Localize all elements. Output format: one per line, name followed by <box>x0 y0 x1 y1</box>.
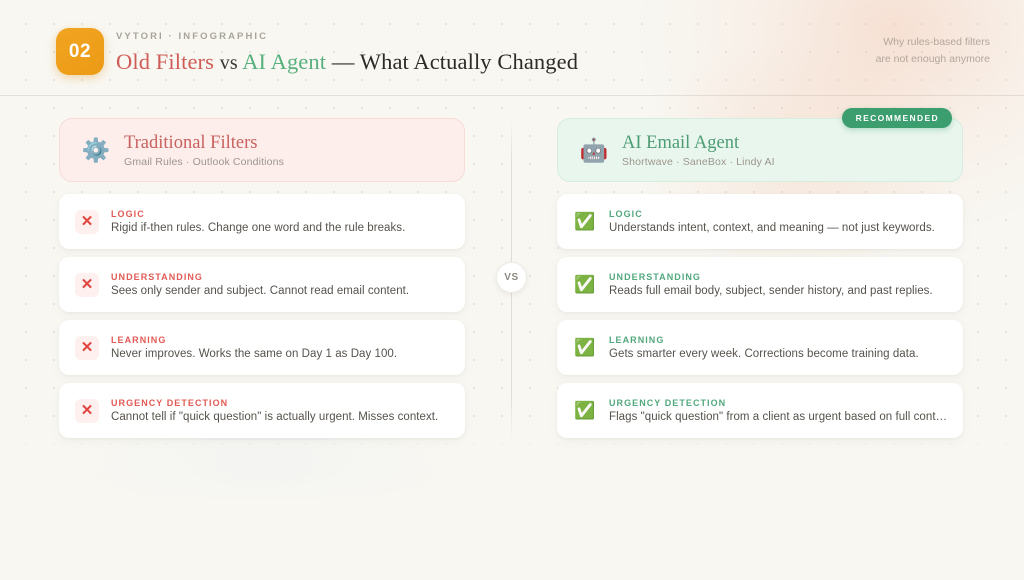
column-title-traditional-filters: Traditional Filters <box>124 133 284 154</box>
list-item-text: Cannot tell if "quick question" is actua… <box>111 411 451 423</box>
header-text-block: VYTORI · INFOGRAPHIC Old Filters vs AI A… <box>116 31 578 75</box>
list-item-label: URGENCY DETECTION <box>609 398 949 408</box>
list-item[interactable]: ✅ UNDERSTANDING Reads full email body, s… <box>557 257 963 312</box>
column-ai-email-agent: 🤖 AI Email Agent Shortwave · SaneBox · L… <box>557 118 963 446</box>
list-item[interactable]: ✕ URGENCY DETECTION Cannot tell if "quic… <box>59 383 465 438</box>
header-note: Why rules-based filters are not enough a… <box>876 34 990 67</box>
column-subtitle-ai-email-agent: Shortwave · SaneBox · Lindy AI <box>622 156 775 168</box>
cross-icon: ✕ <box>75 273 99 297</box>
title-part-vs: vs <box>220 52 238 74</box>
list-item-text: Understands intent, context, and meaning… <box>609 222 949 234</box>
check-icon: ✅ <box>573 336 597 360</box>
list-item-text: Rigid if-then rules. Change one word and… <box>111 222 451 234</box>
feature-list-ai-email-agent: ✅ LOGIC Understands intent, context, and… <box>557 194 963 438</box>
page-header: 02 VYTORI · INFOGRAPHIC Old Filters vs A… <box>0 0 1024 96</box>
list-item-label: UNDERSTANDING <box>609 272 949 282</box>
column-header-ai-email-agent: 🤖 AI Email Agent Shortwave · SaneBox · L… <box>557 118 963 182</box>
list-item-label: LEARNING <box>111 335 451 345</box>
list-item-label: LEARNING <box>609 335 949 345</box>
robot-icon: 🤖 <box>578 139 610 162</box>
background-bottom-fade <box>0 440 1024 580</box>
header-note-line-1: Why rules-based filters <box>876 34 990 51</box>
list-item-label: UNDERSTANDING <box>111 272 451 282</box>
list-item-text: Flags "quick question" from a client as … <box>609 411 949 423</box>
list-item[interactable]: ✕ UNDERSTANDING Sees only sender and sub… <box>59 257 465 312</box>
list-item-label: LOGIC <box>111 209 451 219</box>
check-icon: ✅ <box>573 399 597 423</box>
title-part-rest: — What Actually Changed <box>332 49 578 74</box>
list-item[interactable]: ✅ URGENCY DETECTION Flags "quick questio… <box>557 383 963 438</box>
section-number-badge: 02 <box>56 28 104 75</box>
column-header-traditional-filters: ⚙️ Traditional Filters Gmail Rules · Out… <box>59 118 465 182</box>
list-item[interactable]: ✕ LOGIC Rigid if-then rules. Change one … <box>59 194 465 249</box>
list-item-label: LOGIC <box>609 209 949 219</box>
list-item[interactable]: ✅ LOGIC Understands intent, context, and… <box>557 194 963 249</box>
list-item[interactable]: ✅ LEARNING Gets smarter every week. Corr… <box>557 320 963 375</box>
title-part-ai: AI Agent <box>242 49 326 74</box>
gear-icon: ⚙️ <box>80 139 112 162</box>
list-item-text: Sees only sender and subject. Cannot rea… <box>111 285 451 297</box>
recommended-badge: RECOMMENDED <box>842 108 952 128</box>
versus-badge: VS <box>496 262 527 293</box>
check-icon: ✅ <box>573 210 597 234</box>
eyebrow-label: VYTORI · INFOGRAPHIC <box>116 31 578 42</box>
cross-icon: ✕ <box>75 336 99 360</box>
list-item-text: Never improves. Works the same on Day 1 … <box>111 348 451 360</box>
feature-list-traditional-filters: ✕ LOGIC Rigid if-then rules. Change one … <box>59 194 465 438</box>
cross-icon: ✕ <box>75 399 99 423</box>
cross-icon: ✕ <box>75 210 99 234</box>
list-item-text: Reads full email body, subject, sender h… <box>609 285 949 297</box>
column-subtitle-traditional-filters: Gmail Rules · Outlook Conditions <box>124 156 284 168</box>
list-item-text: Gets smarter every week. Corrections bec… <box>609 348 949 360</box>
infographic-canvas: 02 VYTORI · INFOGRAPHIC Old Filters vs A… <box>0 0 1024 580</box>
list-item[interactable]: ✕ LEARNING Never improves. Works the sam… <box>59 320 465 375</box>
column-traditional-filters: ⚙️ Traditional Filters Gmail Rules · Out… <box>59 118 465 446</box>
title-part-old: Old Filters <box>116 49 214 74</box>
page-title: Old Filters vs AI Agent — What Actually … <box>116 49 578 75</box>
header-note-line-2: are not enough anymore <box>876 51 990 68</box>
column-title-ai-email-agent: AI Email Agent <box>622 133 775 154</box>
list-item-label: URGENCY DETECTION <box>111 398 451 408</box>
check-icon: ✅ <box>573 273 597 297</box>
